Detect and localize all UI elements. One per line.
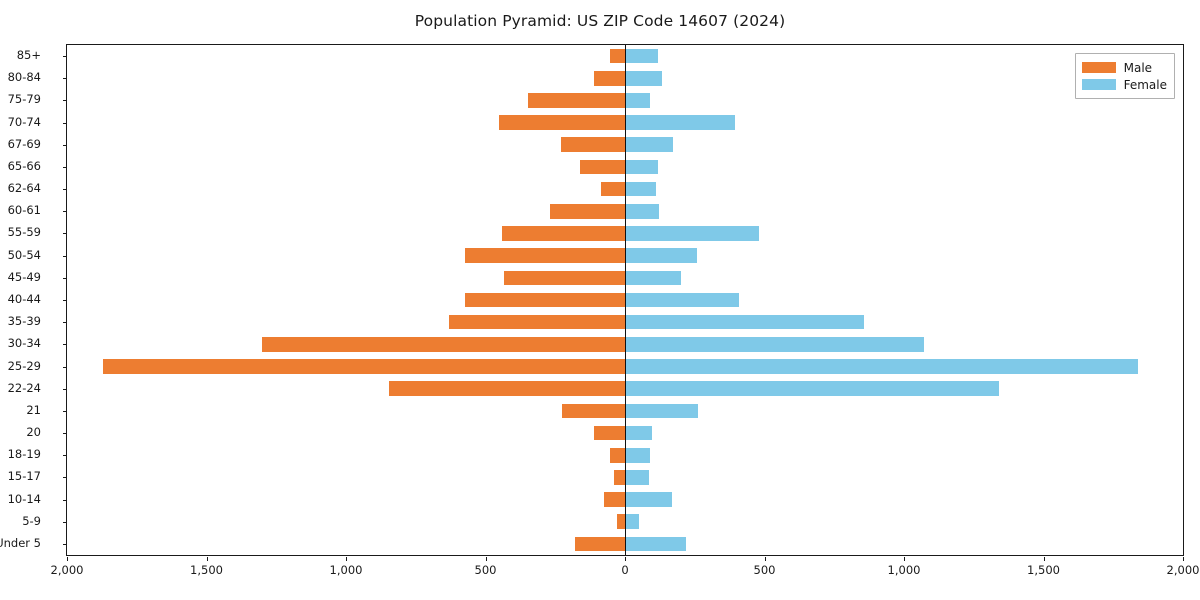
bar-male[interactable] <box>465 293 625 308</box>
population-pyramid-figure: Population Pyramid: US ZIP Code 14607 (2… <box>0 0 1200 600</box>
y-tick-label-25-29: 25-29 <box>0 361 41 373</box>
x-tick-mark <box>486 557 487 561</box>
y-tick-mark <box>63 433 67 434</box>
y-tick-mark <box>63 233 67 234</box>
y-tick-label-20: 20 <box>0 427 41 439</box>
bar-female[interactable] <box>625 359 1138 374</box>
x-tick-label: 1,000 <box>864 565 944 577</box>
bar-female[interactable] <box>625 293 739 308</box>
y-tick-label-under-5: Under 5 <box>0 538 41 550</box>
y-tick-mark <box>63 189 67 190</box>
bar-male[interactable] <box>617 514 625 529</box>
x-tick-label: 1,500 <box>1004 565 1084 577</box>
bar-male[interactable] <box>561 137 625 152</box>
y-tick-mark <box>63 455 67 456</box>
legend-swatch-female-icon <box>1082 79 1116 90</box>
bar-male[interactable] <box>594 71 625 86</box>
y-tick-label-10-14: 10-14 <box>0 494 41 506</box>
y-tick-mark <box>63 411 67 412</box>
bar-male[interactable] <box>601 182 625 197</box>
y-tick-label-15-17: 15-17 <box>0 471 41 483</box>
legend-item-female: Female <box>1082 76 1167 93</box>
y-tick-mark <box>63 389 67 390</box>
plot-inner <box>67 45 1183 555</box>
bar-female[interactable] <box>625 271 681 286</box>
y-tick-mark <box>63 167 67 168</box>
bar-male[interactable] <box>580 160 625 175</box>
y-tick-mark <box>63 278 67 279</box>
x-tick-label: 500 <box>446 565 526 577</box>
bar-female[interactable] <box>625 71 662 86</box>
bar-female[interactable] <box>625 115 735 130</box>
bar-female[interactable] <box>625 537 686 552</box>
y-tick-mark <box>63 256 67 257</box>
zero-axis-line <box>625 45 626 555</box>
y-tick-label-67-69: 67-69 <box>0 139 41 151</box>
bar-male[interactable] <box>550 204 625 219</box>
bar-female[interactable] <box>625 514 639 529</box>
y-tick-mark <box>63 477 67 478</box>
y-tick-label-85-: 85+ <box>0 50 41 62</box>
x-tick-label: 2,000 <box>1143 565 1200 577</box>
bar-female[interactable] <box>625 160 658 175</box>
x-tick-mark <box>904 557 905 561</box>
y-tick-label-50-54: 50-54 <box>0 250 41 262</box>
y-tick-mark <box>63 123 67 124</box>
legend[interactable]: Male Female <box>1075 53 1175 99</box>
y-tick-label-22-24: 22-24 <box>0 383 41 395</box>
x-tick-label: 500 <box>725 565 805 577</box>
bar-male[interactable] <box>504 271 625 286</box>
y-tick-label-65-66: 65-66 <box>0 161 41 173</box>
x-tick-mark <box>207 557 208 561</box>
y-tick-label-5-9: 5-9 <box>0 516 41 528</box>
y-tick-mark <box>63 300 67 301</box>
bar-female[interactable] <box>625 337 924 352</box>
x-tick-label: 1,500 <box>167 565 247 577</box>
y-tick-label-70-74: 70-74 <box>0 117 41 129</box>
x-tick-mark <box>765 557 766 561</box>
bar-female[interactable] <box>625 448 650 463</box>
y-tick-label-30-34: 30-34 <box>0 338 41 350</box>
x-tick-mark <box>1044 557 1045 561</box>
legend-label-female: Female <box>1124 79 1167 91</box>
bar-male[interactable] <box>262 337 625 352</box>
y-tick-mark <box>63 367 67 368</box>
bar-male[interactable] <box>610 448 625 463</box>
bar-female[interactable] <box>625 93 650 108</box>
bar-male[interactable] <box>465 248 625 263</box>
x-tick-mark <box>67 557 68 561</box>
x-tick-label: 0 <box>585 565 665 577</box>
y-tick-label-55-59: 55-59 <box>0 227 41 239</box>
legend-item-male: Male <box>1082 59 1167 76</box>
bar-female[interactable] <box>625 137 673 152</box>
bar-female[interactable] <box>625 492 672 507</box>
chart-title: Population Pyramid: US ZIP Code 14607 (2… <box>0 12 1200 30</box>
bar-female[interactable] <box>625 226 759 241</box>
y-tick-mark <box>63 544 67 545</box>
bar-male[interactable] <box>502 226 625 241</box>
bar-male[interactable] <box>614 470 625 485</box>
bar-male[interactable] <box>575 537 625 552</box>
y-tick-mark <box>63 78 67 79</box>
bar-male[interactable] <box>604 492 625 507</box>
legend-label-male: Male <box>1124 62 1152 74</box>
y-tick-label-21: 21 <box>0 405 41 417</box>
x-tick-mark <box>1183 557 1184 561</box>
y-tick-label-60-61: 60-61 <box>0 205 41 217</box>
bar-male[interactable] <box>610 49 625 64</box>
y-tick-mark <box>63 145 67 146</box>
y-tick-mark <box>63 56 67 57</box>
legend-swatch-male-icon <box>1082 62 1116 73</box>
y-tick-mark <box>63 211 67 212</box>
y-tick-mark <box>63 500 67 501</box>
bar-male[interactable] <box>594 426 625 441</box>
y-tick-label-62-64: 62-64 <box>0 183 41 195</box>
x-tick-label: 1,000 <box>306 565 386 577</box>
bar-male[interactable] <box>562 404 625 419</box>
y-tick-label-40-44: 40-44 <box>0 294 41 306</box>
bar-female[interactable] <box>625 315 864 330</box>
bar-female[interactable] <box>625 182 656 197</box>
y-tick-mark <box>63 322 67 323</box>
bar-male[interactable] <box>103 359 625 374</box>
y-tick-label-75-79: 75-79 <box>0 94 41 106</box>
bar-female[interactable] <box>625 248 697 263</box>
y-tick-label-35-39: 35-39 <box>0 316 41 328</box>
x-tick-label: 2,000 <box>27 565 107 577</box>
bar-male[interactable] <box>389 381 625 396</box>
bar-female[interactable] <box>625 426 652 441</box>
bar-male[interactable] <box>449 315 625 330</box>
y-tick-mark <box>63 522 67 523</box>
x-tick-mark <box>625 557 626 561</box>
x-tick-mark <box>346 557 347 561</box>
y-tick-label-45-49: 45-49 <box>0 272 41 284</box>
bar-female[interactable] <box>625 381 999 396</box>
bar-female[interactable] <box>625 470 649 485</box>
bar-female[interactable] <box>625 404 698 419</box>
y-tick-mark <box>63 344 67 345</box>
y-tick-label-80-84: 80-84 <box>0 72 41 84</box>
y-tick-mark <box>63 100 67 101</box>
plot-area: 85+80-8475-7970-7467-6965-6662-6460-6155… <box>66 44 1184 556</box>
bar-male[interactable] <box>528 93 625 108</box>
bar-female[interactable] <box>625 204 659 219</box>
bar-male[interactable] <box>499 115 625 130</box>
bar-female[interactable] <box>625 49 658 64</box>
y-tick-label-18-19: 18-19 <box>0 449 41 461</box>
